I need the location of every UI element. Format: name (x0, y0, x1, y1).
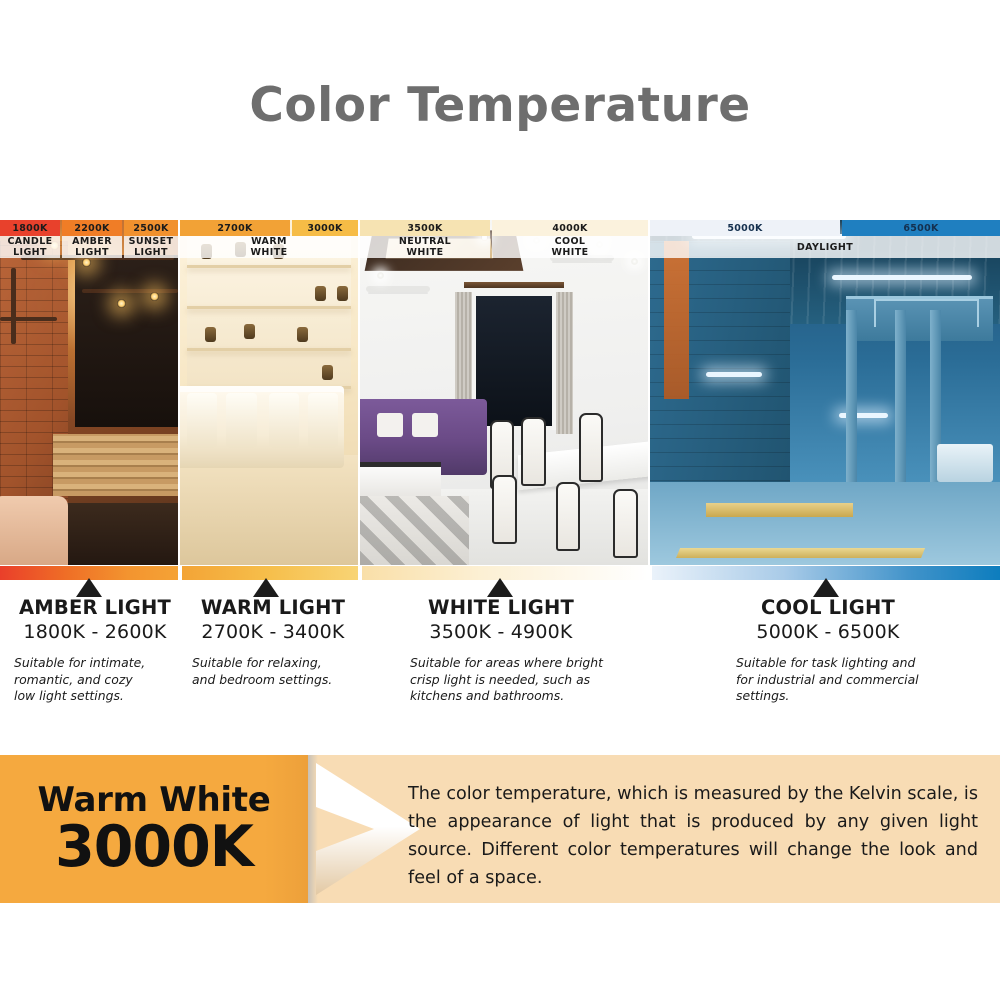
cushion (308, 393, 338, 448)
light-name-line1: NEUTRAL (399, 236, 451, 247)
ceiling-pipe-2 (82, 289, 178, 293)
page-title: Color Temperature (0, 78, 1000, 133)
photo-warm-white-living-room (178, 220, 358, 565)
banner-kelvin-value: 3000K (55, 817, 253, 877)
fluorescent-tube (832, 275, 972, 280)
yellow-floor-line (676, 548, 925, 558)
category-kelvin-range: 5000K - 6500K (718, 621, 938, 644)
light-name-line2: WHITE (552, 247, 589, 258)
light-name-daylight: DAYLIGHT (650, 236, 1000, 258)
category-white-light: WHITE LIGHT3500K - 4900KSuitable for are… (390, 596, 612, 705)
white-scene (360, 220, 648, 565)
kelvin-chip-1800k: 1800K (0, 220, 60, 236)
dark-wall (75, 255, 178, 428)
kelvin-chip-2200k: 2200K (62, 220, 122, 236)
summary-banner: Warm White 3000K (0, 755, 1000, 903)
dining-chair (492, 475, 516, 544)
light-name-line2: LIGHT (134, 247, 168, 258)
category-name: COOL LIGHT (718, 596, 938, 620)
warm-scene (180, 220, 358, 565)
light-name-neutral-white: NEUTRALWHITE (360, 236, 490, 258)
wall-pipe-2 (0, 317, 57, 321)
downlight (631, 258, 638, 265)
category-name: WHITE LIGHT (390, 596, 612, 620)
bench-seat (0, 496, 68, 565)
light-name-cool-white: COOLWHITE (492, 236, 648, 258)
banner-accent-panel: Warm White 3000K (0, 755, 308, 903)
guard-rail (874, 299, 979, 327)
filament-bulb-icon (82, 258, 91, 267)
wall-pipe (11, 268, 16, 344)
kelvin-chip-4000k: 4000K (492, 220, 648, 236)
kelvin-chip-2700k: 2700K (180, 220, 290, 236)
light-name-line1: AMBER (72, 236, 112, 247)
column (846, 310, 857, 510)
decor-object (337, 286, 348, 301)
cushion (187, 393, 217, 448)
curtain (556, 292, 573, 433)
photo-band (0, 220, 1000, 565)
shelf (187, 306, 351, 309)
light-name-line2: WHITE (407, 247, 444, 258)
curtain-pelmet (464, 282, 565, 288)
dining-chair (579, 413, 603, 482)
shelf (187, 265, 351, 268)
kelvin-chip-6500k: 6500K (842, 220, 1000, 236)
shelf (187, 348, 351, 351)
fluorescent-tube (706, 372, 762, 377)
amber-scene (0, 220, 178, 565)
downlight (377, 272, 384, 279)
light-name-line1: SUNSET (129, 236, 174, 247)
ceiling-fan-icon (366, 286, 430, 292)
photo-cool-blue-industrial-warehouse (648, 220, 1000, 565)
decor-object (244, 324, 255, 339)
light-name-line2: WHITE (251, 247, 288, 258)
kelvin-chip-2500k: 2500K (124, 220, 178, 236)
light-name-line1: WARM (251, 236, 287, 247)
category-cool-light: COOL LIGHT5000K - 6500KSuitable for task… (718, 596, 938, 705)
light-name-warm-white: WARMWHITE (180, 236, 358, 258)
patterned-rug (360, 496, 469, 565)
category-description: Suitable for areas where bright crisp li… (410, 655, 610, 705)
category-kelvin-range: 3500K - 4900K (390, 621, 612, 644)
pillow (377, 413, 403, 437)
yellow-bollard-rail (706, 503, 853, 517)
range-marker-1 (76, 578, 102, 597)
pillow (412, 413, 438, 437)
category-description: Suitable for task lighting and for indus… (736, 655, 931, 705)
light-name-amber-light: AMBERLIGHT (62, 236, 122, 258)
category-amber-light: AMBER LIGHT1800K - 2600KSuitable for int… (10, 596, 180, 705)
kelvin-chip-5000k: 5000K (650, 220, 840, 236)
light-name-line1: COOL (555, 236, 586, 247)
category-kelvin-range: 1800K - 2600K (10, 621, 180, 644)
color-temperature-infographic: Color Temperature (0, 0, 1000, 1000)
cushion (269, 393, 299, 448)
decor-object (315, 286, 326, 301)
decor-object (205, 327, 216, 342)
photo-amber-cafe-brick-interior (0, 220, 178, 565)
banner-description-panel: The color temperature, which is measured… (308, 755, 1000, 903)
range-marker-3 (487, 578, 513, 597)
dining-chair (613, 489, 637, 558)
column (895, 310, 906, 510)
range-marker-2 (253, 578, 279, 597)
floor (180, 455, 358, 565)
filament-bulb-icon (150, 292, 159, 301)
kelvin-chip-3500k: 3500K (360, 220, 490, 236)
decor-object (297, 327, 308, 342)
category-description: Suitable for intimate, romantic, and coz… (14, 655, 154, 705)
kelvin-scale-row: 1800K2200K2500K2700K3000K3500K4000K5000K… (0, 220, 1000, 236)
category-row: AMBER LIGHT1800K - 2600KSuitable for int… (0, 596, 1000, 731)
kelvin-chip-3000k: 3000K (292, 220, 358, 236)
light-name-line1: DAYLIGHT (797, 242, 853, 253)
wood-counter (53, 434, 178, 496)
light-name-sunset-light: SUNSETLIGHT (124, 236, 178, 258)
cushion (226, 393, 256, 448)
dining-chair (521, 417, 545, 486)
delivery-truck (937, 444, 993, 482)
decor-object (322, 365, 333, 380)
orange-duct (664, 241, 689, 400)
light-name-line2: LIGHT (75, 247, 109, 258)
light-name-row: CANDLELIGHTAMBERLIGHTSUNSETLIGHTWARMWHIT… (0, 236, 1000, 258)
light-name-line1: CANDLE (7, 236, 52, 247)
category-warm-light: WARM LIGHT2700K - 3400KSuitable for rela… (188, 596, 358, 688)
category-kelvin-range: 2700K - 3400K (188, 621, 358, 644)
cool-scene (650, 220, 1000, 565)
photo-neutral-white-living-dining-room (358, 220, 648, 565)
light-name-candle-light: CANDLELIGHT (0, 236, 60, 258)
light-name-line2: LIGHT (13, 247, 47, 258)
dining-chair (556, 482, 580, 551)
range-marker-4 (813, 578, 839, 597)
category-name: WARM LIGHT (188, 596, 358, 620)
category-description: Suitable for relaxing, and bedroom setti… (192, 655, 342, 688)
category-name: AMBER LIGHT (10, 596, 180, 620)
banner-body-text: The color temperature, which is measured… (408, 780, 978, 892)
